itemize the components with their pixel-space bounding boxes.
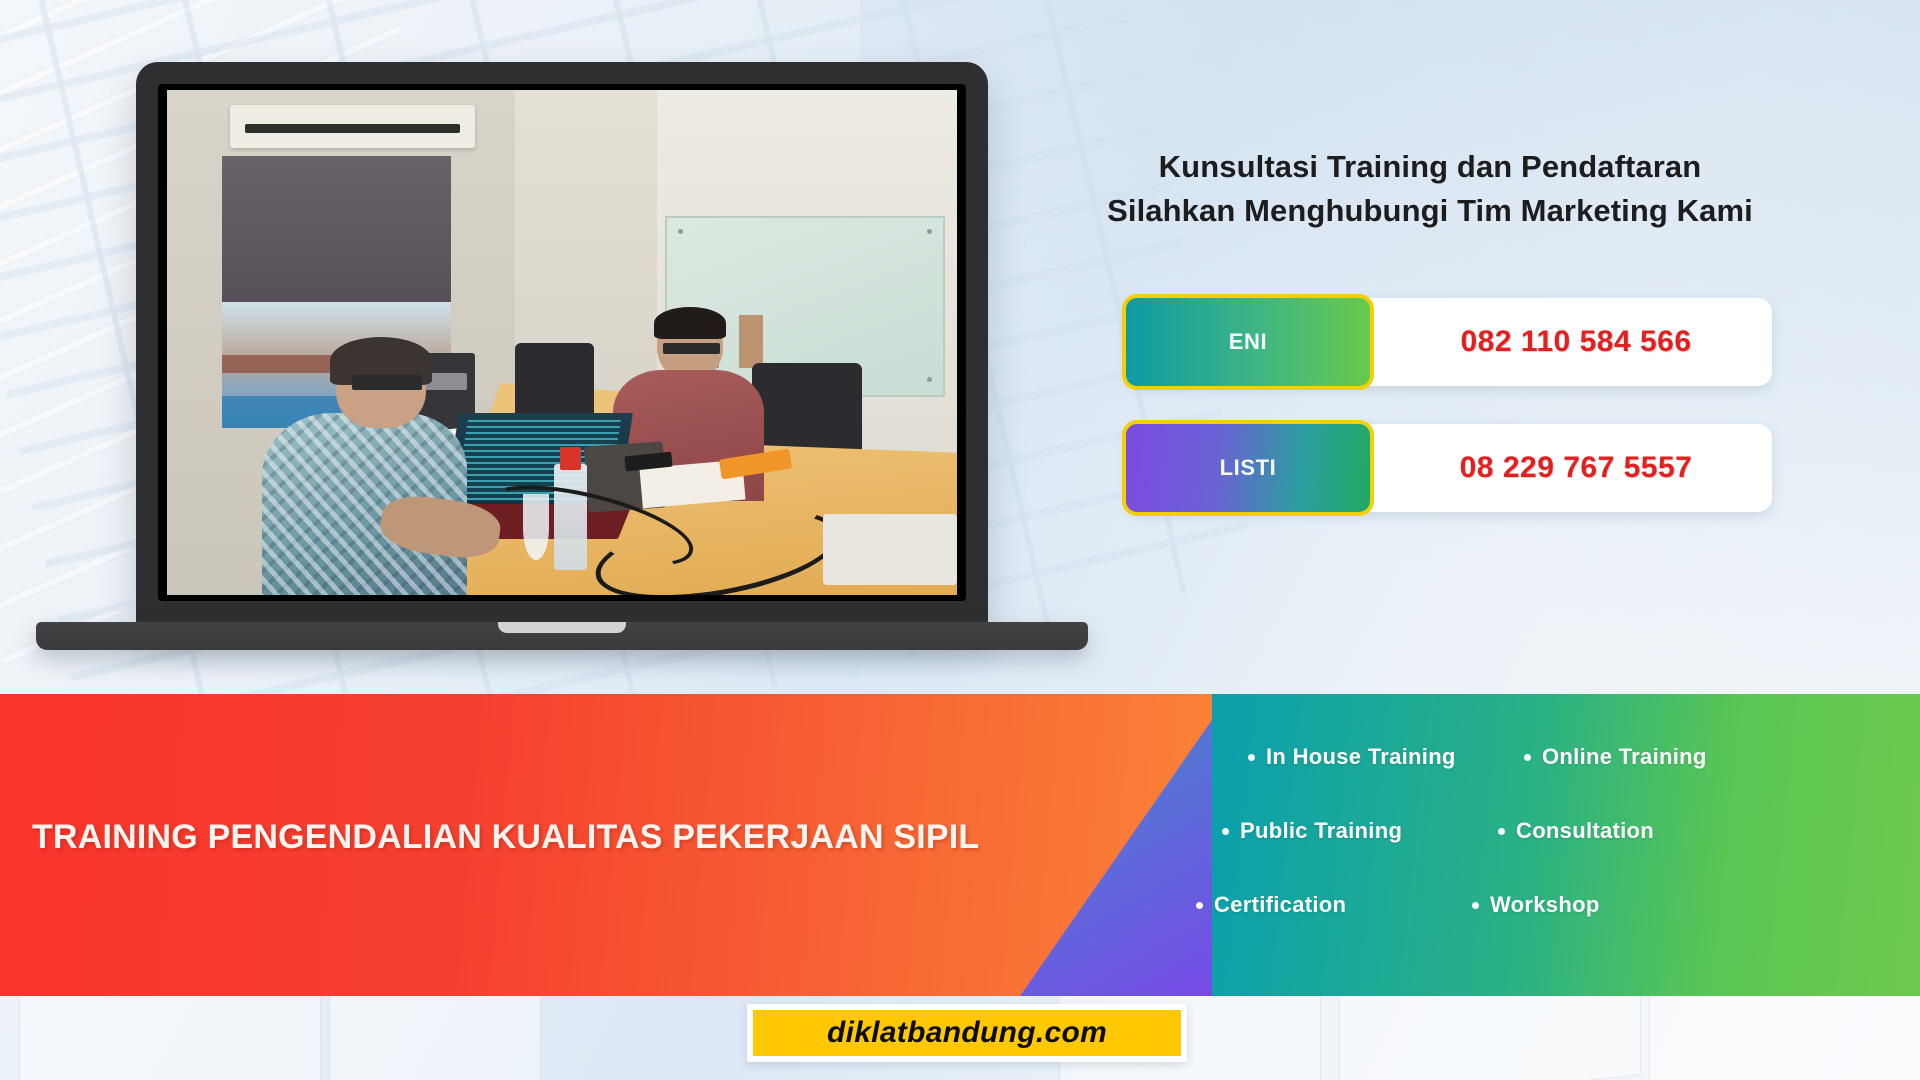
services-row-1: In House Training Online Training	[1212, 720, 1920, 794]
service-item-public-training[interactable]: Public Training	[1222, 818, 1480, 844]
services-row-3: Certification Workshop	[1212, 868, 1920, 942]
service-item-online-training[interactable]: Online Training	[1524, 744, 1707, 770]
training-session-photo	[167, 90, 957, 595]
trainer-person	[262, 343, 467, 596]
laptop-notch	[498, 622, 626, 633]
projector	[823, 514, 957, 585]
air-conditioner-icon	[230, 105, 475, 148]
laptop-bezel	[158, 84, 966, 601]
contact-name-badge-listi: LISTI	[1122, 420, 1374, 516]
service-item-in-house-training[interactable]: In House Training	[1248, 744, 1506, 770]
headline-line-1: Kunsultasi Training dan Pendaftaran	[1030, 145, 1830, 189]
bullet-icon	[1472, 902, 1479, 909]
headline: Kunsultasi Training dan Pendaftaran Sila…	[1030, 145, 1830, 233]
laptop-mockup	[136, 62, 988, 627]
website-link[interactable]: diklatbandung.com	[753, 1010, 1181, 1056]
laptop-lid	[136, 62, 988, 627]
bullet-icon	[1248, 754, 1255, 761]
poster-canvas: Kunsultasi Training dan Pendaftaran Sila…	[0, 0, 1920, 1080]
laptop-base	[36, 622, 1088, 650]
bullet-icon	[1498, 828, 1505, 835]
contact-card-eni[interactable]: ENI 082 110 584 566	[1128, 298, 1772, 386]
service-item-consultation[interactable]: Consultation	[1498, 818, 1654, 844]
service-item-certification[interactable]: Certification	[1196, 892, 1454, 918]
chair-background	[515, 343, 594, 424]
service-label: Workshop	[1490, 892, 1600, 918]
contact-name-listi: LISTI	[1220, 455, 1277, 481]
contact-name-eni: ENI	[1229, 329, 1267, 355]
website-badge-frame: diklatbandung.com	[747, 1004, 1187, 1062]
service-label: In House Training	[1266, 744, 1456, 770]
service-label: Online Training	[1542, 744, 1707, 770]
page-title: TRAINING PENGENDALIAN KUALITAS PEKERJAAN…	[32, 818, 1032, 857]
service-label: Consultation	[1516, 818, 1654, 844]
bullet-icon	[1524, 754, 1531, 761]
services-list: In House Training Online Training Public…	[1212, 720, 1920, 980]
service-label: Certification	[1214, 892, 1346, 918]
bullet-icon	[1196, 902, 1203, 909]
service-label: Public Training	[1240, 818, 1402, 844]
services-row-2: Public Training Consultation	[1212, 794, 1920, 868]
headline-line-2: Silahkan Menghubungi Tim Marketing Kami	[1030, 189, 1830, 233]
meeting-room-scene	[167, 90, 957, 595]
contact-card-listi[interactable]: LISTI 08 229 767 5557	[1128, 424, 1772, 512]
contact-phone-eni[interactable]: 082 110 584 566	[1380, 325, 1772, 359]
contact-name-badge-eni: ENI	[1122, 294, 1374, 390]
bullet-icon	[1222, 828, 1229, 835]
window-blind	[222, 156, 451, 306]
contact-phone-listi[interactable]: 08 229 767 5557	[1380, 451, 1772, 485]
service-item-workshop[interactable]: Workshop	[1472, 892, 1600, 918]
